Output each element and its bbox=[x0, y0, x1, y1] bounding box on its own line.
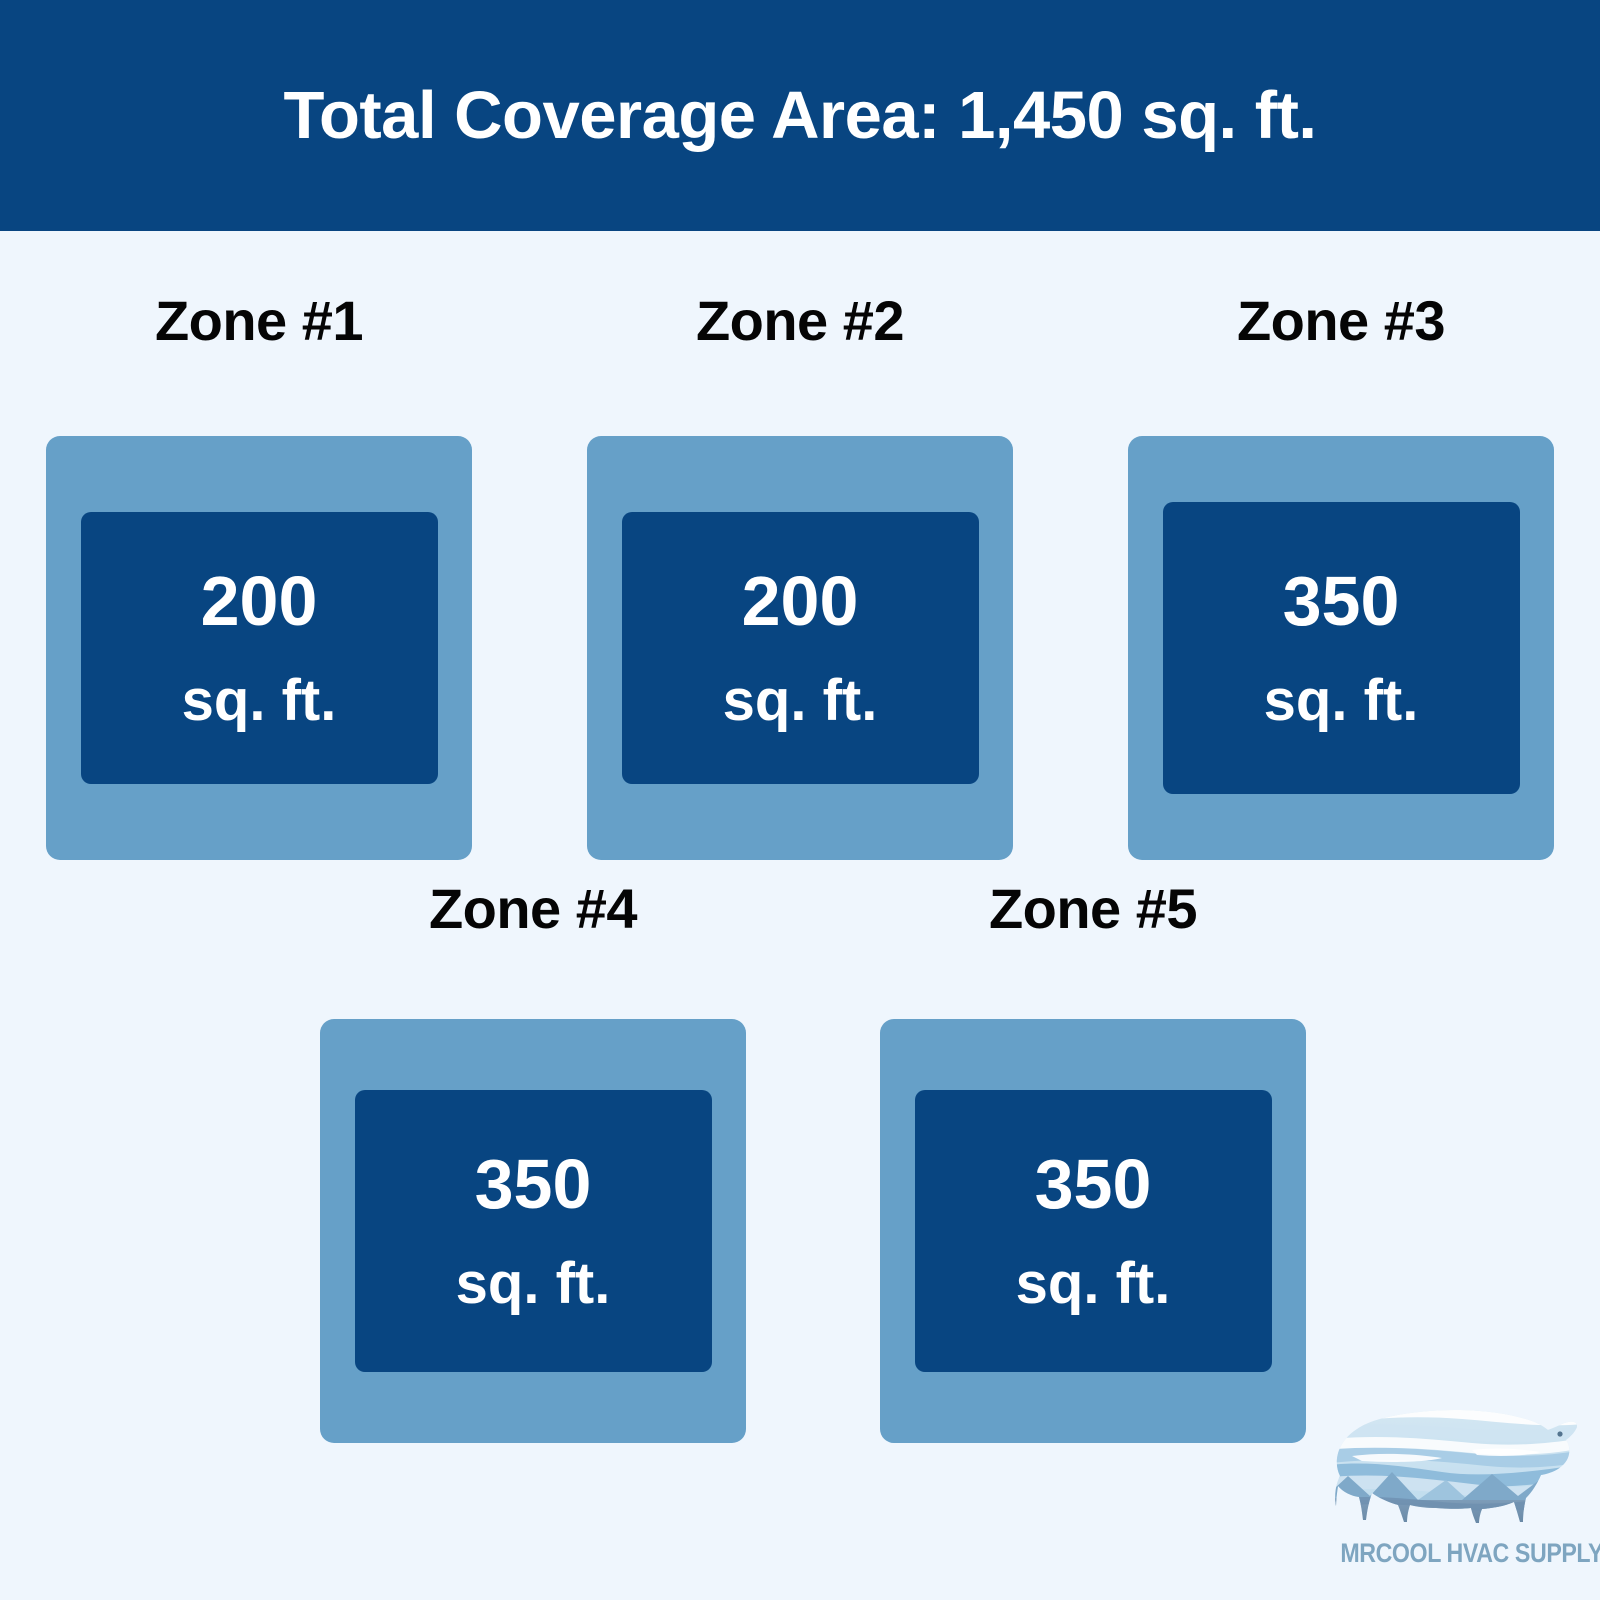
zone-inner-area-2: 200 sq. ft. bbox=[622, 512, 979, 784]
zone-value-3: 350 bbox=[1283, 566, 1400, 636]
zone-inner-area-3: 350 sq. ft. bbox=[1163, 502, 1520, 794]
zone-card-4[interactable]: Zone #4 350 sq. ft. bbox=[320, 881, 746, 1443]
zone-card-1[interactable]: Zone #1 200 sq. ft. bbox=[46, 293, 472, 860]
zone-label-5: Zone #5 bbox=[989, 881, 1197, 937]
zone-label-2: Zone #2 bbox=[696, 293, 904, 349]
zone-inner-area-1: 200 sq. ft. bbox=[81, 512, 438, 784]
zone-unit-2: sq. ft. bbox=[723, 672, 878, 730]
zone-inner-area-5: 350 sq. ft. bbox=[915, 1090, 1272, 1372]
zone-card-2[interactable]: Zone #2 200 sq. ft. bbox=[587, 293, 1013, 860]
zone-outer-area-5: 350 sq. ft. bbox=[880, 1019, 1306, 1443]
zone-inner-area-4: 350 sq. ft. bbox=[355, 1090, 712, 1372]
zone-label-4: Zone #4 bbox=[429, 881, 637, 937]
zone-unit-1: sq. ft. bbox=[182, 672, 337, 730]
zone-unit-4: sq. ft. bbox=[456, 1255, 611, 1313]
zone-outer-area-1: 200 sq. ft. bbox=[46, 436, 472, 860]
zone-outer-area-3: 350 sq. ft. bbox=[1128, 436, 1554, 860]
header-banner: Total Coverage Area: 1,450 sq. ft. bbox=[0, 0, 1600, 231]
zone-value-4: 350 bbox=[475, 1149, 592, 1219]
zone-label-1: Zone #1 bbox=[155, 293, 363, 349]
zone-outer-area-4: 350 sq. ft. bbox=[320, 1019, 746, 1443]
zone-unit-3: sq. ft. bbox=[1264, 672, 1419, 730]
polar-bear-icon bbox=[1322, 1388, 1584, 1540]
zone-card-5[interactable]: Zone #5 350 sq. ft. bbox=[880, 881, 1306, 1443]
zone-outer-area-2: 200 sq. ft. bbox=[587, 436, 1013, 860]
zone-value-1: 200 bbox=[201, 566, 318, 636]
zone-value-5: 350 bbox=[1035, 1149, 1152, 1219]
zone-label-3: Zone #3 bbox=[1237, 293, 1445, 349]
brand-logo: MRCOOL HVAC SUPPLY bbox=[1322, 1388, 1584, 1586]
page-title: Total Coverage Area: 1,450 sq. ft. bbox=[283, 82, 1316, 149]
zone-card-3[interactable]: Zone #3 350 sq. ft. bbox=[1128, 293, 1554, 860]
brand-name: MRCOOL HVAC SUPPLY bbox=[1340, 1540, 1565, 1567]
zone-unit-5: sq. ft. bbox=[1016, 1255, 1171, 1313]
zone-value-2: 200 bbox=[742, 566, 859, 636]
